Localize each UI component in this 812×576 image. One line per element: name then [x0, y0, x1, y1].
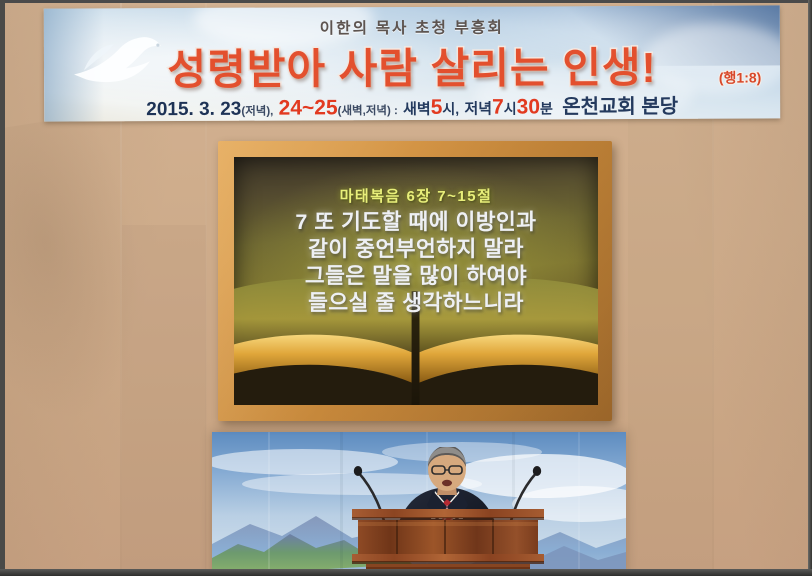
slide-line-1: 7 또 기도할 때에 이방인과	[234, 209, 598, 236]
photograph: 이한의 목사 초청 부흥회 성령받아 사람 살리는 인생! (행1:8) 201…	[0, 0, 812, 576]
banner-venue: 온천교회 본당	[562, 96, 678, 119]
event-banner: 이한의 목사 초청 부흥회 성령받아 사람 살리는 인생! (행1:8) 201…	[44, 5, 780, 121]
wooden-pulpit-icon	[352, 509, 544, 576]
banner-time2-unit: 시	[504, 101, 517, 117]
banner-time2-value: 7	[492, 96, 504, 119]
banner-date-line: 2015. 3. 23(저녁), 24~25(새벽,저녁) : 새벽5시, 저녁…	[44, 89, 780, 121]
banner-date: 2015. 3. 23	[146, 99, 241, 120]
projection-screen-frame: 마태복음 6장 7~15절 7 또 기도할 때에 이방인과 같이 중언부언하지 …	[218, 141, 612, 421]
banner-date-paren1: (저녁),	[241, 106, 273, 118]
banner-date-paren2: (새벽,저녁) :	[338, 105, 398, 117]
slide-body: 7 또 기도할 때에 이방인과 같이 중언부언하지 말라 그들은 말을 많이 하…	[234, 209, 598, 317]
projection-screen: 마태복음 6장 7~15절 7 또 기도할 때에 이방인과 같이 중언부언하지 …	[234, 157, 598, 405]
wall-panel-left	[122, 225, 206, 576]
photo-border-bottom	[0, 569, 812, 576]
photo-border-right	[808, 0, 812, 576]
banner-time1-unit: 시,	[442, 101, 459, 117]
banner-time2-minutes: 30	[517, 95, 540, 118]
slide-heading: 마태복음 6장 7~15절	[234, 185, 598, 206]
banner-date-range: 24~25	[279, 96, 338, 119]
slide-line-4: 들으실 줄 생각하느니라	[234, 290, 598, 317]
slide-line-2: 같이 중언부언하지 말라	[234, 236, 598, 263]
banner-title: 성령받아 사람 살리는 인생!	[44, 33, 780, 97]
banner-time1-value: 5	[431, 96, 443, 119]
photo-border-top	[0, 0, 812, 3]
banner-time1-label: 새벽	[403, 101, 431, 118]
slide-line-3: 그들은 말을 많이 하여야	[234, 263, 598, 290]
wall-panel-right	[628, 120, 714, 576]
photo-border-left	[0, 0, 5, 576]
banner-time2-label: 저녁	[464, 101, 492, 118]
banner-time2-minutes-unit: 분	[540, 100, 553, 116]
banner-scripture-ref: (행1:8)	[719, 67, 762, 87]
